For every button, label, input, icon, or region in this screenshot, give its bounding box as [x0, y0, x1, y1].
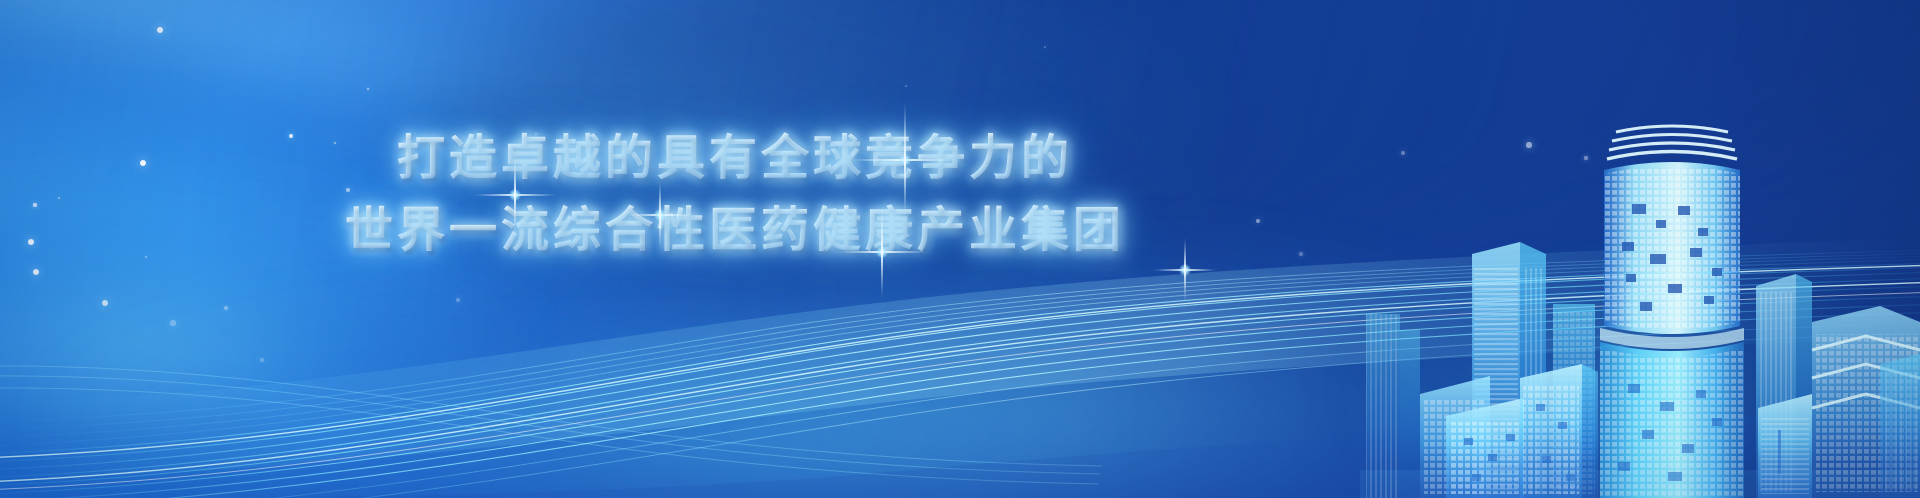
hero-banner: 打造卓越的具有全球竞争力的 世界一流综合性医药健康产业集团	[0, 0, 1920, 498]
page-title: 打造卓越的具有全球竞争力的 世界一流综合性医药健康产业集团	[0, 128, 1470, 263]
light-particle	[905, 85, 908, 88]
light-particle	[1044, 46, 1046, 48]
light-particle	[367, 88, 369, 90]
headline-line-2: 世界一流综合性医药健康产业集团	[0, 200, 1470, 262]
headline-line-1: 打造卓越的具有全球竞争力的	[0, 128, 1470, 190]
light-particle	[157, 27, 163, 33]
